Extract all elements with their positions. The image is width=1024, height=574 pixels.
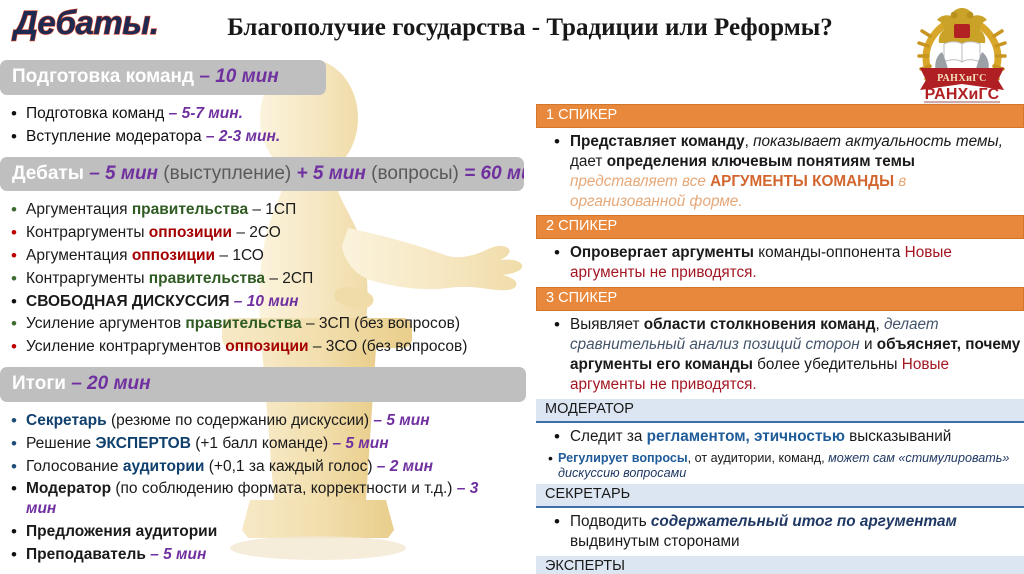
role-header-experts: ЭКСПЕРТЫ — [536, 556, 1024, 574]
run-blue-bold: регламентом, этичностью — [647, 428, 845, 445]
run-plain: Следит за — [570, 428, 647, 445]
run-faded-italic: представляет все — [570, 173, 710, 190]
item-text: (+0,1 за каждый голос) — [204, 458, 372, 475]
section3-title: Итоги — [12, 373, 66, 394]
run-bold: определения ключевым понятиям темы — [607, 153, 915, 170]
run-plain-2: высказываний — [845, 428, 951, 445]
list-item: Предложения аудитории — [0, 522, 524, 542]
section1-title: Подготовка команд — [12, 66, 194, 87]
svg-text:РАНХиГС: РАНХиГС — [937, 73, 987, 84]
run-plain: , от аудитории, команд, — [688, 451, 828, 465]
run-plain: , — [745, 133, 754, 150]
item-emphasis: правительства — [132, 201, 248, 218]
item-emphasis: Модератор — [26, 480, 111, 497]
list-item: Подводить содержательный итог по аргумен… — [536, 512, 1024, 552]
item-time: 5 мин — [345, 435, 388, 452]
item-time: 5-7 мин. — [182, 105, 243, 122]
role-header-speaker-1: 1 СПИКЕР — [536, 104, 1024, 128]
section-header-debates: Дебаты – 5 мин (выступление) + 5 мин (во… — [0, 157, 524, 192]
list-item: Решение ЭКСПЕРТОВ (+1 балл команде) – 5 … — [0, 434, 524, 454]
ranepa-logo: РАНХиГС РАНХиГС — [906, 0, 1018, 104]
run-plain-2: , — [875, 316, 884, 333]
speaker-1-content: Представляет команду, показывает актуаль… — [536, 132, 1024, 212]
role-header-secretary: СЕКРЕТАРЬ — [536, 484, 1024, 508]
item-text: Усиление аргументов — [26, 315, 185, 332]
run-italic: показывает актуальность темы, — [753, 133, 1003, 150]
item-dash: – — [164, 105, 181, 122]
run-faded-bold: АРГУМЕНТЫ КОМАНДЫ — [710, 173, 894, 190]
debate-brand-logo: Дебаты. — [14, 4, 159, 42]
item-emphasis: Преподаватель — [26, 546, 146, 563]
speaker-2-content: Опровергает аргументы команды-оппонента … — [536, 243, 1024, 283]
moderator-content: Следит за регламентом, этичностью высказ… — [536, 427, 1024, 482]
item-emphasis: ЭКСПЕРТОВ — [95, 435, 190, 452]
run-bold: Опровергает аргументы — [570, 244, 754, 261]
list-item: Усиление аргументов правительства – 3СП … — [0, 314, 524, 334]
list-item: Секретарь (резюме по содержанию дискусси… — [0, 411, 524, 431]
role-header-speaker-3: 3 СПИКЕР — [536, 287, 1024, 311]
list-item: Подготовка команд – 5-7 мин. — [0, 104, 524, 124]
run-plain-4: более убедительны — [753, 356, 902, 373]
item-time: 2 мин — [390, 458, 433, 475]
section2-part-2: (выступление) — [158, 163, 297, 184]
list-item: Модератор (по соблюдению формата, коррек… — [0, 479, 494, 519]
list-item: Голосование аудитории (+0,1 за каждый го… — [0, 457, 524, 477]
list-item: Выявляет области столкновения команд, де… — [536, 315, 1024, 395]
section2-part-4: (вопросы) — [366, 163, 464, 184]
item-dash: – — [146, 546, 163, 563]
item-emphasis: правительства — [149, 270, 265, 287]
list-item: Вступление модератора – 2-3 мин. — [0, 127, 524, 147]
item-text: (по соблюдению формата, корректности и т… — [111, 480, 452, 497]
section2-part-3: + 5 мин — [297, 163, 366, 184]
list-item: Следит за регламентом, этичностью высказ… — [536, 427, 1024, 447]
section2-title: Дебаты — [12, 163, 84, 184]
section-header-results: Итоги – 20 мин — [0, 367, 526, 402]
item-dash: – — [202, 128, 219, 145]
item-text: Аргументация — [26, 247, 132, 264]
list-item: Представляет команду, показывает актуаль… — [536, 132, 1024, 212]
item-emphasis: правительства — [185, 315, 301, 332]
section1-list: Подготовка команд – 5-7 мин. Вступление … — [0, 104, 524, 147]
item-text: Контраргументы — [26, 224, 149, 241]
slide-root: Дебаты. Благополучие государства - Тради… — [0, 0, 1024, 574]
item-time: 10 мин — [247, 293, 299, 310]
item-suffix: – 2СО — [232, 224, 281, 241]
item-text: Вступление модератора — [26, 128, 202, 145]
item-emphasis: СВОБОДНАЯ ДИСКУССИЯ — [26, 293, 229, 310]
run-blue-bold: Регулирует вопросы — [558, 451, 688, 465]
item-emphasis: аудитории — [123, 458, 205, 475]
section-header-preparation: Подготовка команд – 10 мин — [0, 60, 326, 95]
item-suffix: – 3СО (без вопросов) — [309, 338, 468, 355]
list-item: Преподаватель – 5 мин — [0, 545, 524, 565]
run-bold: области столкновения команд — [644, 316, 876, 333]
item-emphasis: оппозиции — [225, 338, 308, 355]
section1-dash: – — [194, 66, 215, 87]
run-bold: Представляет команду — [570, 133, 745, 150]
item-dash: – — [452, 480, 469, 497]
section2-list: Аргументация правительства – 1СП Контрар… — [0, 200, 524, 357]
item-emphasis: оппозиции — [149, 224, 232, 241]
list-item: Контраргументы оппозиции – 2СО — [0, 223, 524, 243]
run-italic-navy: содержательный итог по аргументам — [651, 513, 957, 530]
item-prefix: Голосование — [26, 458, 123, 475]
item-suffix: – 2СП — [265, 270, 313, 287]
item-time: 2-3 мин. — [219, 128, 280, 145]
list-item: Контраргументы правительства – 2СП — [0, 269, 524, 289]
run-plain-2: выдвинутым сторонами — [570, 533, 740, 550]
list-item: Усиление контраргументов оппозиции – 3СО… — [0, 337, 524, 357]
page-title: Благополучие государства - Традиции или … — [165, 14, 895, 42]
section3-time: 20 мин — [87, 373, 151, 394]
run-plain: Выявляет — [570, 316, 644, 333]
item-dash: – — [372, 458, 389, 475]
item-text: Аргументация — [26, 201, 132, 218]
item-emphasis: оппозиции — [132, 247, 215, 264]
section2-part-1: 5 мин — [105, 163, 158, 184]
secretary-content: Подводить содержательный итог по аргумен… — [536, 512, 1024, 552]
speaker-3-content: Выявляет области столкновения команд, де… — [536, 315, 1024, 395]
list-item: Аргументация оппозиции – 1СО — [0, 246, 524, 266]
list-item: Аргументация правительства – 1СП — [0, 200, 524, 220]
item-prefix: Решение — [26, 435, 95, 452]
item-text: (резюме по содержанию дискуссии) — [107, 412, 369, 429]
run-plain: дает — [570, 153, 607, 170]
item-text: Усиление контраргументов — [26, 338, 225, 355]
item-suffix: – 3СП (без вопросов) — [302, 315, 460, 332]
run-faded: представляет все АРГУМЕНТЫ КОМАНДЫ в орг… — [570, 172, 1024, 212]
item-dash: – — [328, 435, 345, 452]
item-dash: – — [369, 412, 386, 429]
item-emphasis: Предложения аудитории — [26, 523, 217, 540]
item-dash: – — [229, 293, 246, 310]
item-time: 5 мин — [163, 546, 206, 563]
list-item: СВОБОДНАЯ ДИСКУССИЯ – 10 мин — [0, 292, 524, 312]
section3-list: Секретарь (резюме по содержанию дискусси… — [0, 411, 524, 565]
item-emphasis: Секретарь — [26, 412, 107, 429]
run-plain-3: и — [860, 336, 877, 353]
item-suffix: – 1СП — [248, 201, 296, 218]
section2-part-0: – — [84, 163, 105, 184]
list-item: Опровергает аргументы команды-оппонента … — [536, 243, 1024, 283]
list-item: Регулирует вопросы, от аудитории, команд… — [536, 451, 1024, 482]
item-text: Подготовка команд — [26, 105, 164, 122]
item-suffix: – 1СО — [215, 247, 264, 264]
left-column: Подготовка команд – 10 мин Подготовка ко… — [0, 60, 524, 568]
section1-time: 10 мин — [215, 66, 279, 87]
item-text: (+1 балл команде) — [191, 435, 328, 452]
section2-part-5: = 60 мин — [464, 163, 524, 184]
role-header-speaker-2: 2 СПИКЕР — [536, 215, 1024, 239]
role-header-moderator: МОДЕРАТОР — [536, 399, 1024, 423]
section3-dash: – — [66, 373, 87, 394]
item-time: 5 мин — [386, 412, 429, 429]
right-column: 1 СПИКЕР Представляет команду, показывае… — [536, 104, 1024, 574]
run-plain: команды-оппонента — [754, 244, 905, 261]
item-text: Контраргументы — [26, 270, 149, 287]
run-plain: Подводить — [570, 513, 651, 530]
svg-text:РАНХиГС: РАНХиГС — [925, 86, 1000, 103]
